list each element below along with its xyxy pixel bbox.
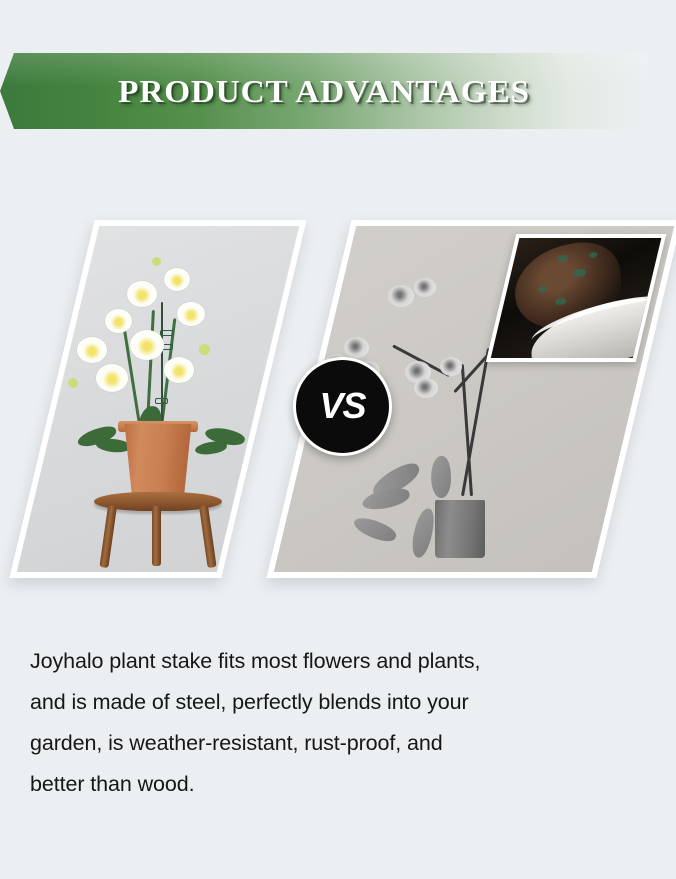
wilted-bloom xyxy=(413,378,437,398)
stake-clip xyxy=(155,398,168,404)
wooden-stool xyxy=(94,492,222,568)
orchid-bloom xyxy=(127,281,157,307)
plant-stake xyxy=(161,302,163,422)
soil-closeup-inset xyxy=(486,234,666,362)
product-advantages-slide: PRODUCT ADVANTAGES xyxy=(0,0,676,879)
orchid-bloom xyxy=(96,364,128,392)
wilted-leaf xyxy=(360,486,410,512)
wilted-bloom xyxy=(388,285,414,307)
wilted-leaf xyxy=(351,513,398,546)
versus-label: VS xyxy=(319,388,365,424)
header-banner: PRODUCT ADVANTAGES xyxy=(0,53,676,129)
panel-left-frame xyxy=(17,226,299,572)
orchid-bloom xyxy=(164,357,194,383)
product-description: Joyhalo plant stake fits most flowers an… xyxy=(30,641,652,805)
orchid-bloom xyxy=(164,268,190,291)
comparison-panel-left xyxy=(9,220,306,578)
orchid-bloom xyxy=(177,302,205,326)
orchid-leaf xyxy=(95,437,130,455)
healthy-orchid-scene xyxy=(17,226,299,572)
soil-closeup-image xyxy=(491,238,662,358)
wilted-leaf xyxy=(429,455,452,498)
versus-badge: VS xyxy=(293,357,392,456)
stool-leg xyxy=(199,505,217,568)
wilted-leaf xyxy=(409,507,435,559)
orchid-bud xyxy=(152,257,161,266)
stool-leg xyxy=(99,505,117,568)
stool-leg xyxy=(152,506,161,566)
wilted-bloom xyxy=(413,278,435,297)
terracotta-pot xyxy=(120,424,196,498)
description-line: Joyhalo plant stake fits most flowers an… xyxy=(30,641,652,682)
orchid-bud xyxy=(199,344,210,355)
description-line: better than wood. xyxy=(30,764,652,805)
description-line: and is made of steel, perfectly blends i… xyxy=(30,682,652,723)
orchid-bloom xyxy=(130,330,164,360)
orchid-bloom xyxy=(77,337,107,363)
orchid-bud xyxy=(68,378,78,388)
wilted-bloom xyxy=(344,337,369,358)
page-title: PRODUCT ADVANTAGES xyxy=(0,53,661,129)
healthy-orchid-photo xyxy=(17,226,299,572)
orchid-bloom xyxy=(105,309,132,333)
plastic-pot xyxy=(435,500,485,558)
stake-clip xyxy=(160,330,173,336)
description-line: garden, is weather-resistant, rust-proof… xyxy=(30,723,652,764)
orchid-leaf xyxy=(194,440,227,455)
